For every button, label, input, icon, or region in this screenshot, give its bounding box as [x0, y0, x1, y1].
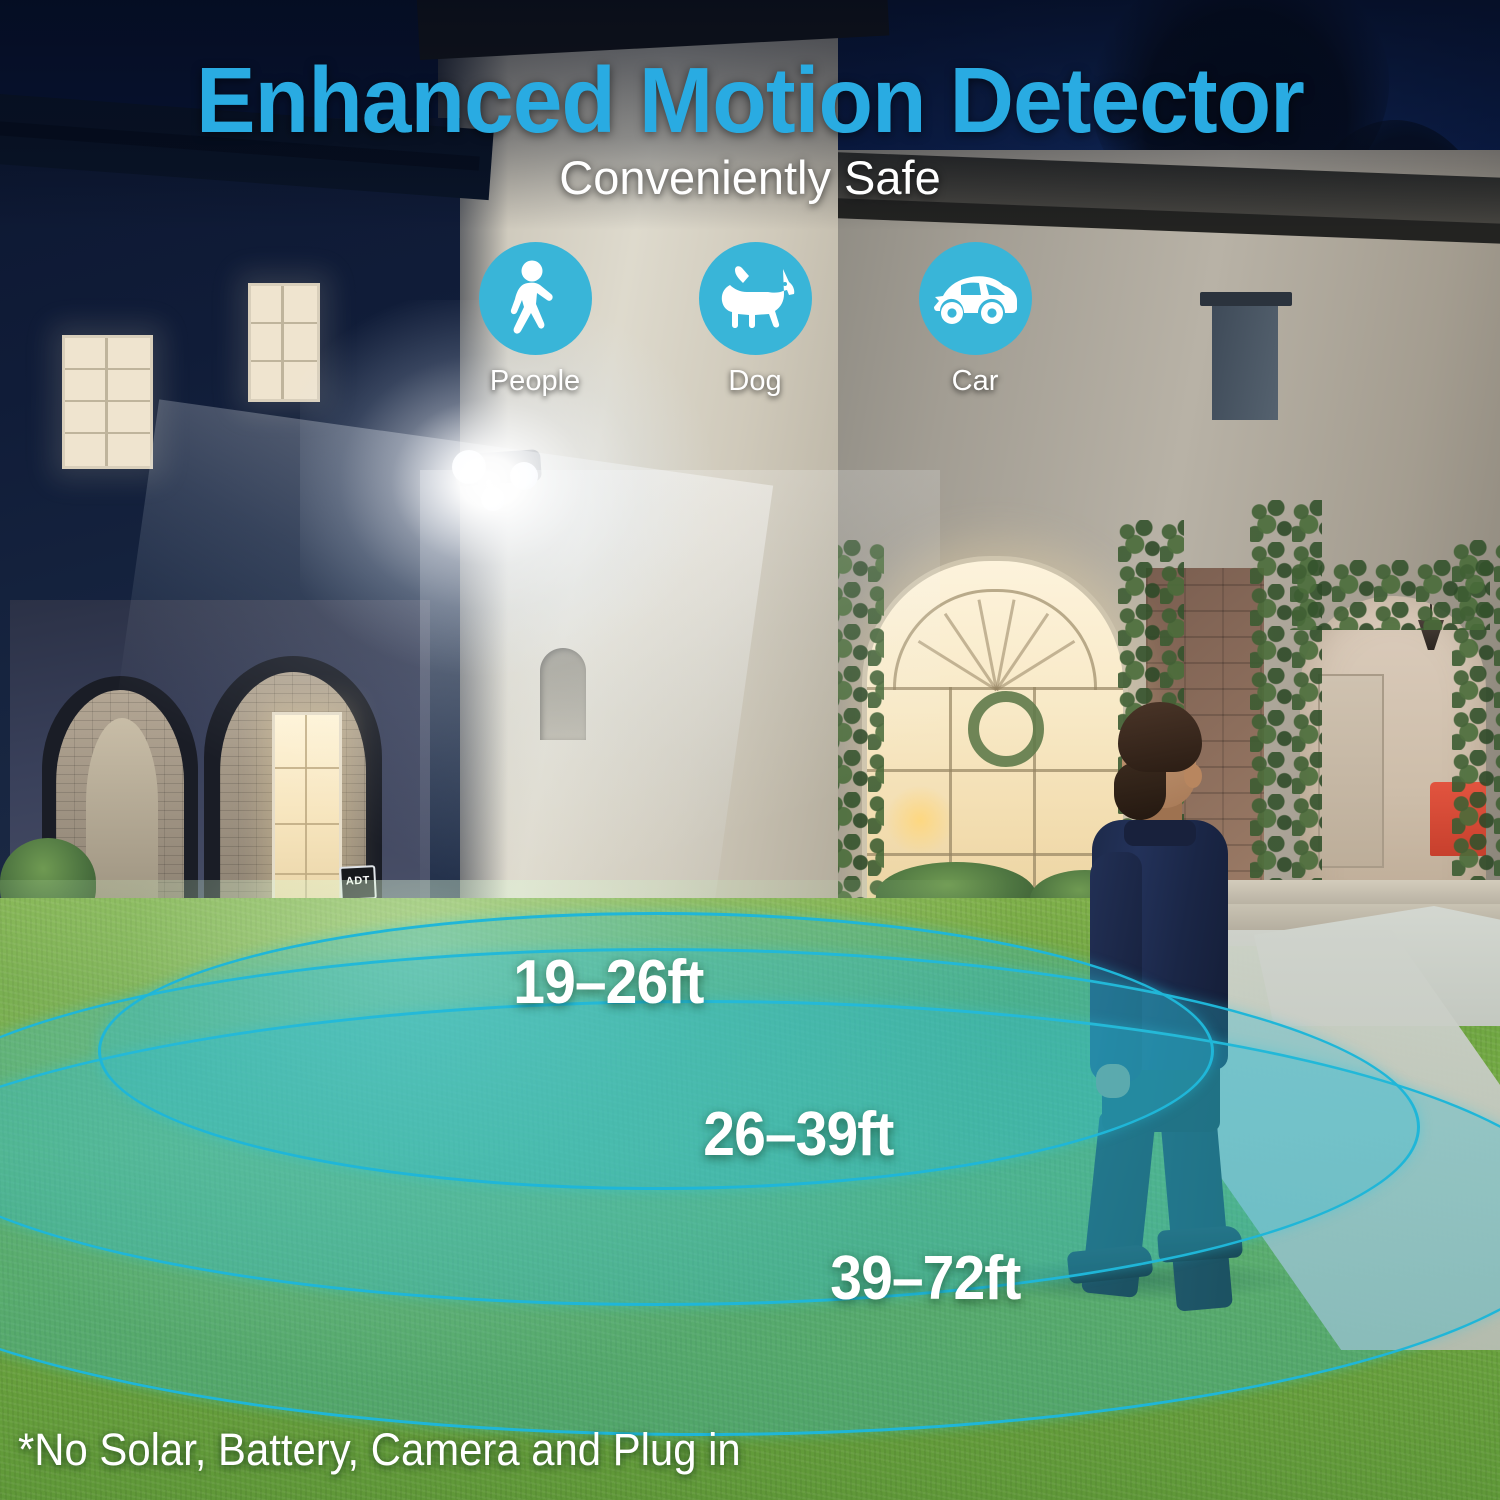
archway-interior [86, 718, 158, 910]
floodlight-head-icon [481, 487, 505, 511]
detection-target-dog: Dog [680, 242, 830, 398]
car-icon [919, 242, 1032, 355]
detection-target-list: People Dog Car [460, 242, 1050, 407]
floodlight-head-icon [510, 462, 538, 490]
wall-niche [540, 648, 586, 740]
ivy-foliage [1290, 560, 1490, 630]
yard-sign-label: ADT [342, 874, 375, 888]
lit-window [62, 335, 153, 469]
detection-target-label: Car [952, 365, 999, 398]
detection-target-car: Car [900, 242, 1050, 398]
lit-window [248, 283, 320, 402]
dog-icon [699, 242, 812, 355]
detection-range-label-1: 19–26ft [513, 952, 703, 1014]
walking-person-icon [479, 242, 592, 355]
floodlight-head-icon [452, 450, 486, 484]
night-house-photo: ADT [0, 0, 1500, 1500]
product-feature-image: ADT [0, 0, 1500, 1500]
interior-door [1318, 674, 1384, 868]
wreath-decoration [968, 691, 1044, 767]
interior-lamp-glow [885, 785, 955, 855]
footnote-disclaimer: *No Solar, Battery, Camera and Plug in [18, 1424, 741, 1476]
lit-glass-door [272, 712, 342, 916]
page-title: Enhanced Motion Detector [30, 54, 1470, 147]
window-fanlight [893, 589, 1097, 690]
security-yard-sign: ADT [339, 865, 377, 901]
detection-target-people: People [460, 242, 610, 398]
detection-range-label-2: 26–39ft [703, 1104, 893, 1166]
detection-range-label-3: 39–72ft [830, 1248, 1020, 1310]
detection-target-label: People [490, 365, 580, 398]
chimney [1212, 300, 1278, 420]
chimney-cap [1200, 292, 1292, 306]
page-subtitle: Conveniently Safe [0, 152, 1500, 204]
hair [1118, 702, 1202, 772]
detection-target-label: Dog [728, 365, 781, 398]
